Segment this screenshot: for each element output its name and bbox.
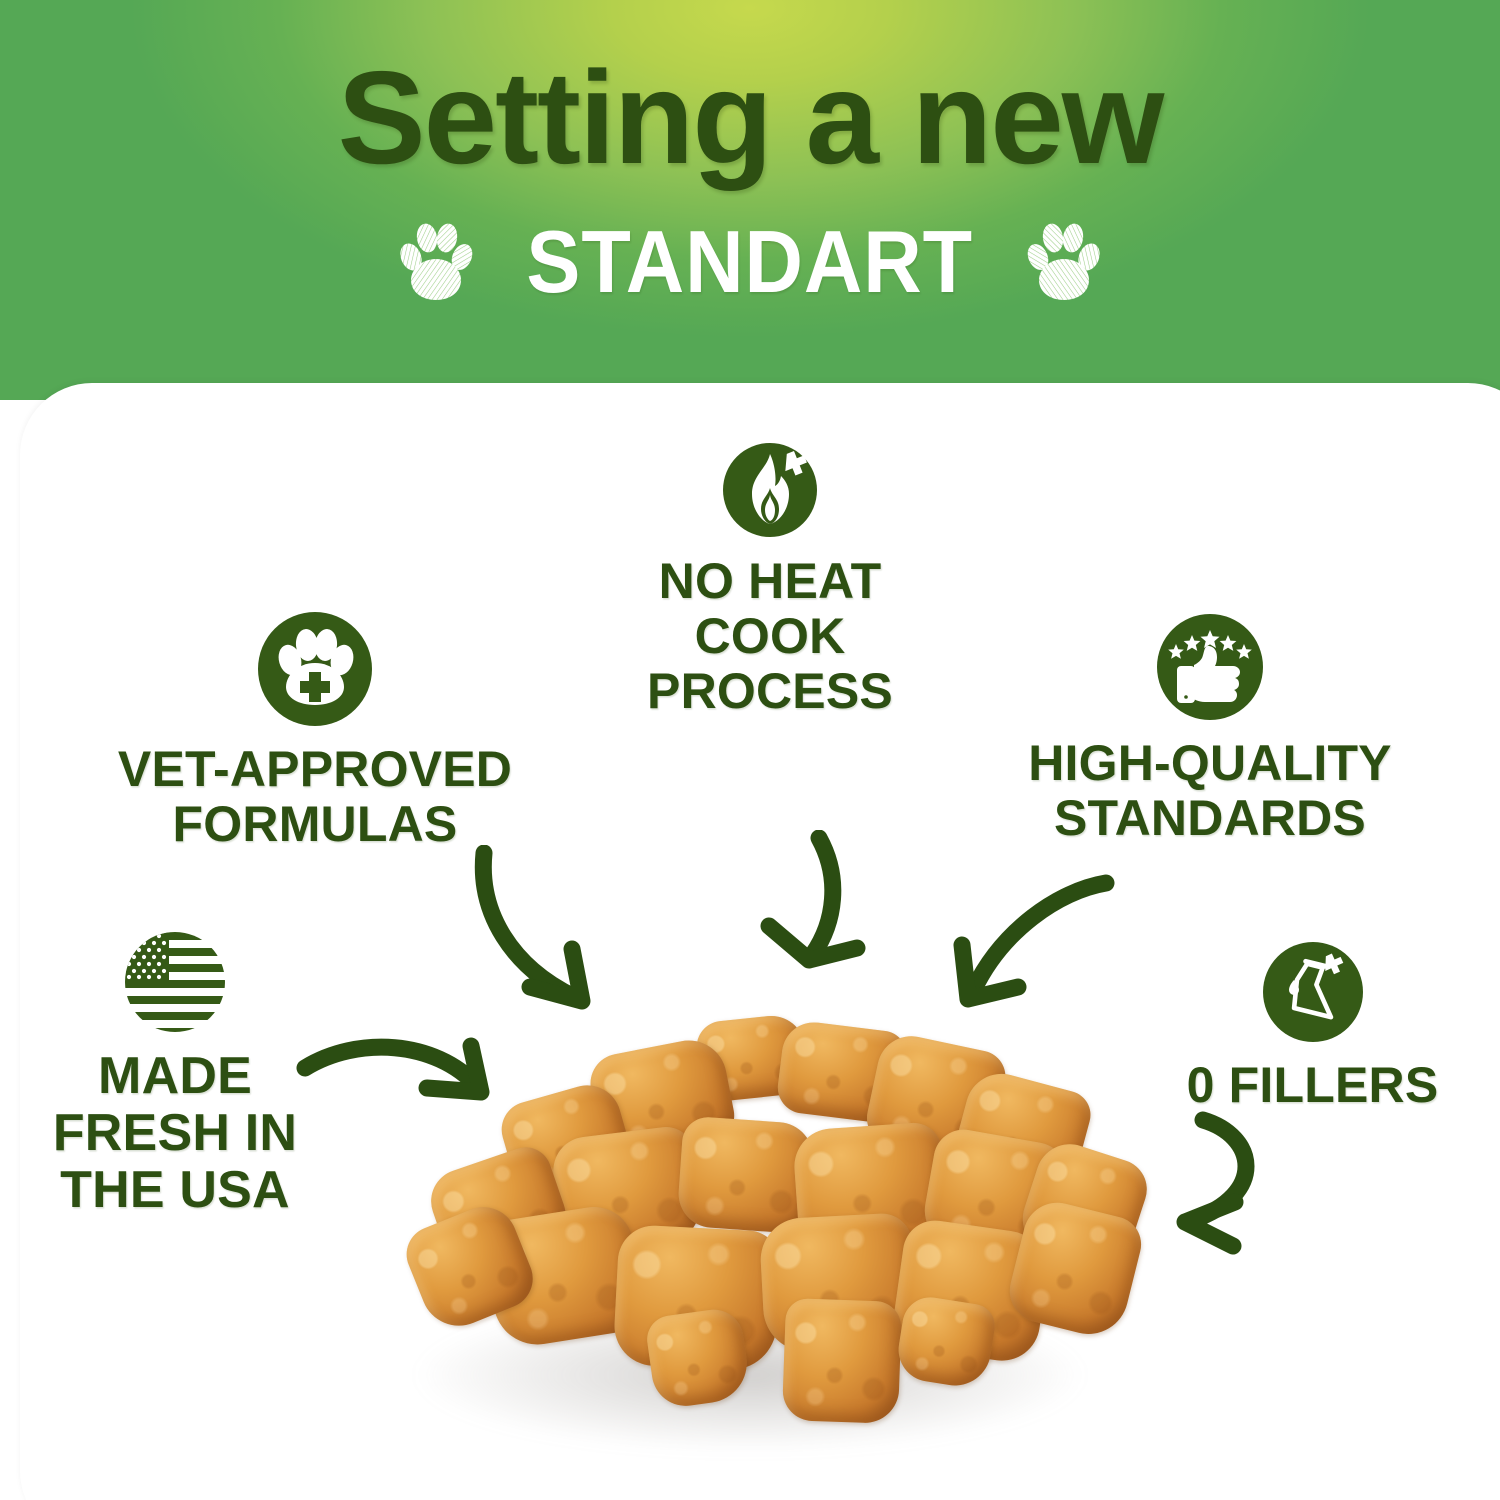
kibble-pile — [380, 1000, 1120, 1450]
subtitle-row: STANDART — [0, 218, 1500, 306]
usa-flag-circle-icon — [0, 930, 360, 1034]
thumbs-up-stars-icon — [940, 612, 1480, 722]
page-title: Setting a new — [0, 52, 1500, 184]
feature-vet-approved: VET-APPROVED FORMULAS — [35, 610, 595, 852]
product-infographic: Setting a new STANDAR — [0, 0, 1500, 1500]
feature-zero-fillers: 0 FILLERS — [1135, 940, 1490, 1113]
feature-label: HIGH-QUALITY STANDARDS — [940, 736, 1480, 846]
feature-made-in-usa: MADE FRESH IN THE USA — [0, 930, 360, 1220]
feature-label: NO HEAT COOK PROCESS — [545, 554, 995, 719]
header-banner: Setting a new STANDAR — [0, 0, 1500, 400]
feature-no-heat-cook: NO HEAT COOK PROCESS — [545, 440, 995, 719]
feature-label: MADE FRESH IN THE USA — [0, 1048, 360, 1220]
flask-no-fillers-icon — [1135, 940, 1490, 1044]
feature-label: 0 FILLERS — [1135, 1058, 1490, 1113]
paw-print-icon — [1027, 221, 1101, 303]
feature-label: VET-APPROVED FORMULAS — [35, 742, 595, 852]
paw-print-icon — [399, 221, 473, 303]
flame-no-heat-icon — [545, 440, 995, 540]
paw-medical-cross-icon — [35, 610, 595, 728]
page-subtitle: STANDART — [527, 218, 974, 306]
feature-high-quality: HIGH-QUALITY STANDARDS — [940, 612, 1480, 846]
